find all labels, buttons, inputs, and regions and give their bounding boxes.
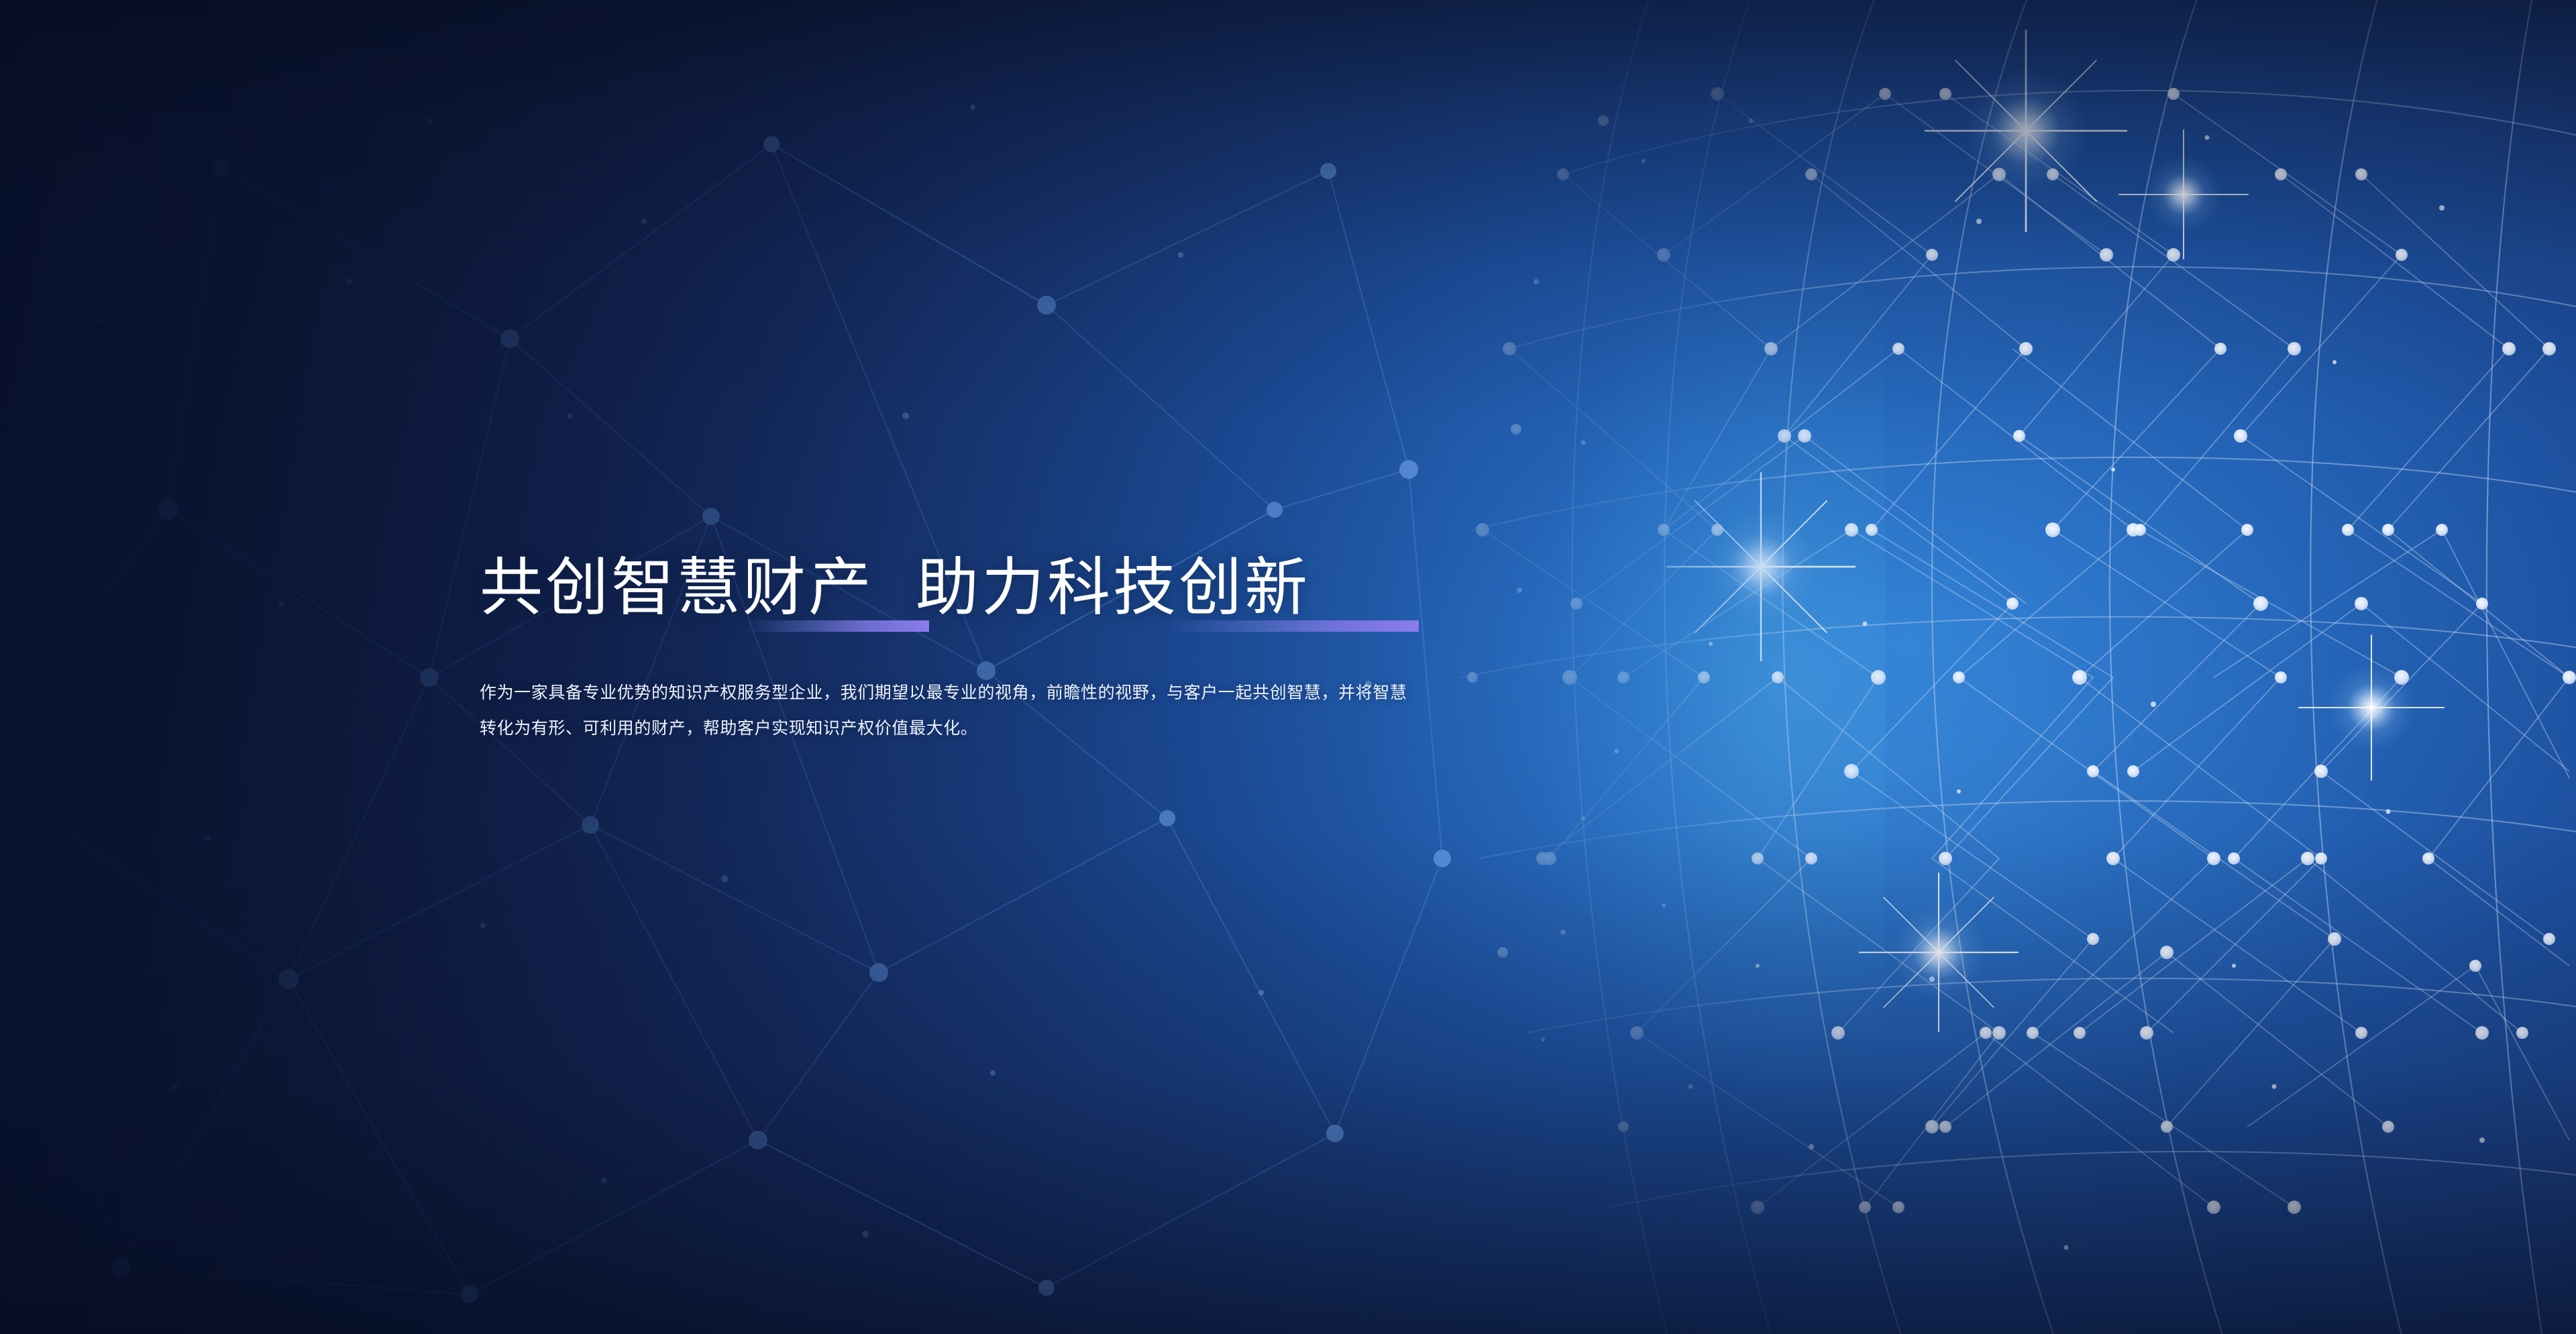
- headline-part-1: 共创智慧财产: [480, 552, 874, 622]
- hero-content: 共创智慧财产助力科技创新 作为一家具备专业优势的知识产权服务型企业，我们期望以最…: [480, 550, 1432, 746]
- headline-part-2: 助力科技创新: [916, 552, 1310, 622]
- hero-banner: 共创智慧财产助力科技创新 作为一家具备专业优势的知识产权服务型企业，我们期望以最…: [0, 0, 2576, 1334]
- headline-underline-2: [1167, 620, 1419, 632]
- page-title: 共创智慧财产助力科技创新: [480, 550, 1432, 625]
- hero-description: 作为一家具备专业优势的知识产权服务型企业，我们期望以最专业的视角，前瞻性的视野，…: [480, 675, 1419, 746]
- headline-underline-1: [745, 620, 929, 632]
